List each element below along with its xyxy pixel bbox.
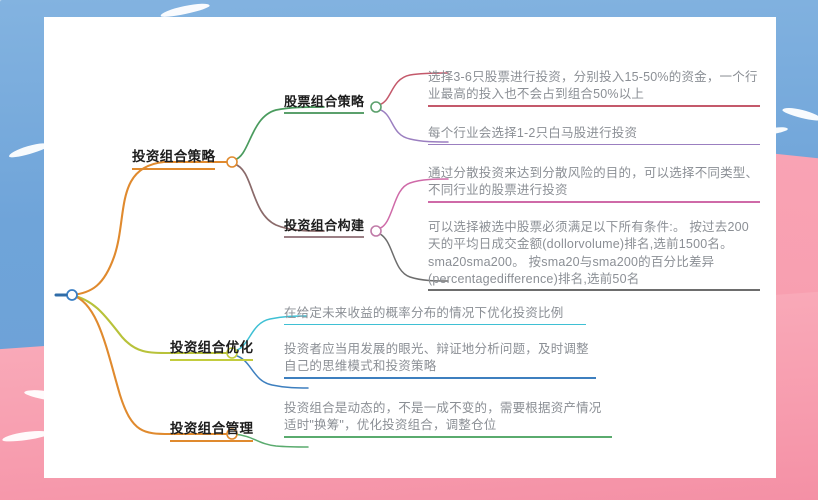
leaf-text: 可以选择被选中股票必须满足以下所有条件:。 按过去200天的平均日成交金额(do… <box>428 219 760 288</box>
node-label: 投资组合优化 <box>170 339 253 358</box>
node-stock-combination-strategy[interactable]: 股票组合策略 <box>284 93 364 111</box>
node-investment-portfolio-optimization[interactable]: 投资组合优化 <box>170 339 253 358</box>
node-portfolio-construction[interactable]: 投资组合构建 <box>284 217 364 235</box>
leaf-text: 投资组合是动态的，不是一成不变的，需要根据资产情况适时"换筹"，优化投资组合，调… <box>284 400 612 435</box>
connector-root-strategy <box>72 162 164 295</box>
leaf-text: 投资者应当用发展的眼光、辩证地分析问题，及时调整自己的思维模式和投资策略 <box>284 341 596 376</box>
node-dot-portfolio-build[interactable] <box>371 226 381 236</box>
node-label: 投资组合策略 <box>132 148 215 167</box>
connector-root-manage <box>72 295 170 434</box>
node-investment-portfolio-strategy[interactable]: 投资组合策略 <box>132 148 215 167</box>
leaf-probability-distribution[interactable]: 在给定未来收益的概率分布的情况下优化投资比例 <box>284 305 586 322</box>
leaf-diversification[interactable]: 通过分散投资来达到分散风险的目的，可以选择不同类型、不同行业的股票进行投资 <box>428 165 760 200</box>
leaf-text: 在给定未来收益的概率分布的情况下优化投资比例 <box>284 305 586 322</box>
node-label: 投资组合构建 <box>284 217 364 235</box>
leaf-text: 每个行业会选择1-2只白马股进行投资 <box>428 125 760 142</box>
leaf-white-horse-stocks[interactable]: 每个行业会选择1-2只白马股进行投资 <box>428 125 760 142</box>
seagull-icon <box>782 105 818 122</box>
leaf-stock-count-allocation[interactable]: 选择3-6只股票进行投资，分别投入15-50%的资金，一个行业最高的投入也不会占… <box>428 69 760 104</box>
leaf-text: 通过分散投资来达到分散风险的目的，可以选择不同类型、不同行业的股票进行投资 <box>428 165 760 200</box>
node-dot-strategy[interactable] <box>227 157 237 167</box>
mindmap-canvas: 投资组合策略 投资组合优化 投资组合管理 股票组合策略 投资组合构建 选择3-6… <box>44 17 776 478</box>
leaf-screening-conditions[interactable]: 可以选择被选中股票必须满足以下所有条件:。 按过去200天的平均日成交金额(do… <box>428 219 760 288</box>
node-dot-stock-combo[interactable] <box>371 102 381 112</box>
leaf-text: 选择3-6只股票进行投资，分别投入15-50%的资金，一个行业最高的投入也不会占… <box>428 69 760 104</box>
node-investment-portfolio-management[interactable]: 投资组合管理 <box>170 420 253 439</box>
leaf-dynamic-portfolio[interactable]: 投资组合是动态的，不是一成不变的，需要根据资产情况适时"换筹"，优化投资组合，调… <box>284 400 612 435</box>
node-label: 投资组合管理 <box>170 420 253 439</box>
node-label: 股票组合策略 <box>284 93 364 111</box>
connector-strategy-stockcombo <box>234 107 324 160</box>
mindmap-screenshot: 投资组合策略 投资组合优化 投资组合管理 股票组合策略 投资组合构建 选择3-6… <box>0 0 818 500</box>
leaf-investor-mindset[interactable]: 投资者应当用发展的眼光、辩证地分析问题，及时调整自己的思维模式和投资策略 <box>284 341 596 376</box>
root-node-dot[interactable] <box>67 290 77 300</box>
